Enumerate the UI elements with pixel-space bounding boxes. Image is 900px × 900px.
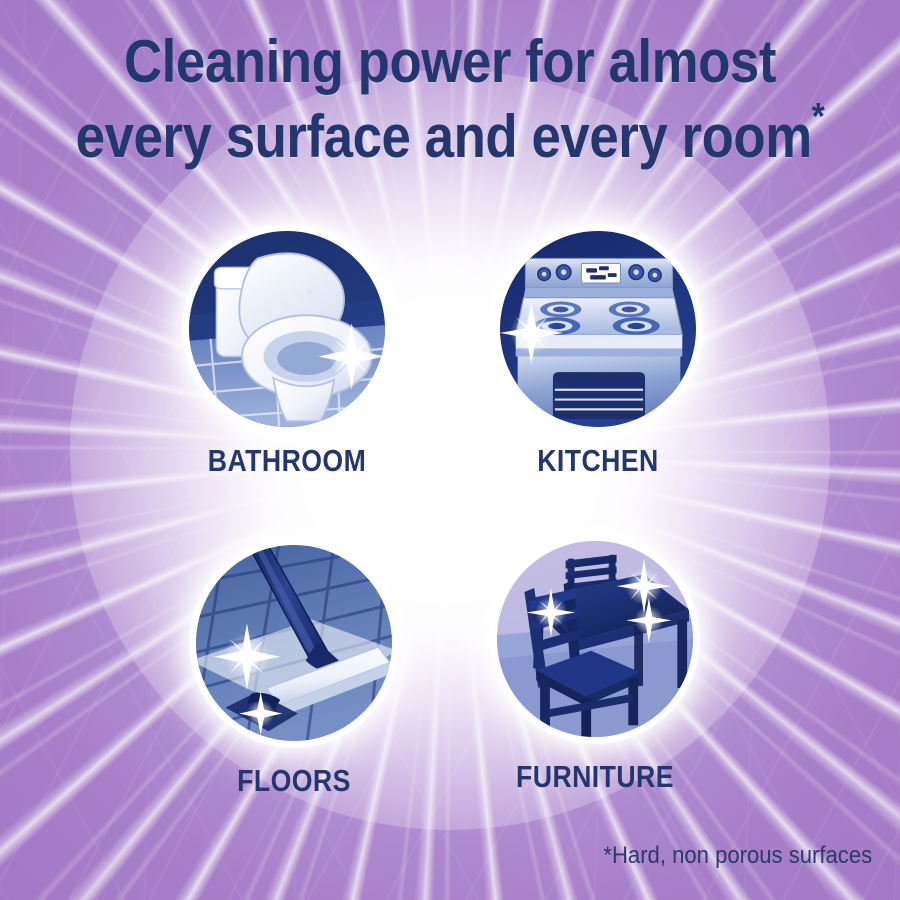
table-and-chairs-icon	[497, 541, 693, 737]
footnote-disclaimer: *Hard, non porous surfaces	[603, 842, 872, 870]
headline-line-2: every surface and every room	[76, 103, 812, 170]
kitchen-image-disc	[500, 231, 696, 427]
feature-tile-kitchen[interactable]: KITCHEN	[500, 231, 696, 427]
tile-label-furniture: FURNITURE	[516, 759, 674, 795]
toilet-icon	[189, 231, 385, 427]
page-title: Cleaning power for almost every surface …	[54, 28, 846, 172]
bathroom-image-disc	[189, 231, 385, 427]
feature-tile-furniture[interactable]: FURNITURE	[497, 541, 693, 737]
mop-icon	[196, 545, 392, 741]
tile-label-bathroom: BATHROOM	[208, 443, 366, 479]
floors-image-disc	[196, 545, 392, 741]
feature-tile-bathroom[interactable]: BATHROOM	[189, 231, 385, 427]
headline-line-1: Cleaning power for almost	[54, 28, 846, 96]
tile-label-kitchen: KITCHEN	[537, 443, 659, 479]
tile-label-floors: FLOORS	[237, 763, 351, 799]
feature-tile-floors[interactable]: FLOORS	[196, 545, 392, 741]
headline-asterisk: *	[812, 96, 825, 138]
stove-icon	[500, 231, 696, 427]
promo-graphic: Cleaning power for almost every surface …	[0, 0, 900, 900]
furniture-image-disc	[497, 541, 693, 737]
headline-line-2-wrap: every surface and every room*	[54, 96, 846, 171]
